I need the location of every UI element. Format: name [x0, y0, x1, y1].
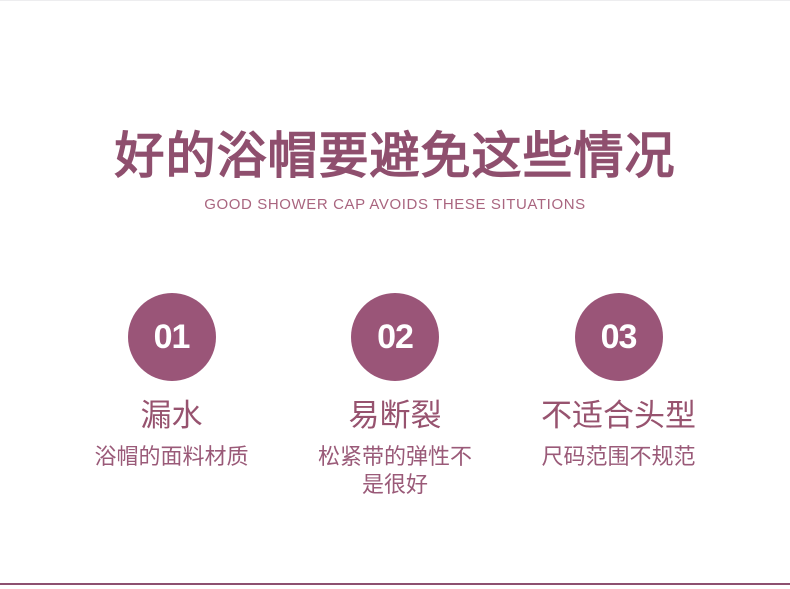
number-badge-circle-02: 02 — [351, 293, 439, 381]
badge-number-label: 01 — [154, 320, 190, 354]
item-description-02: 松紧带的弹性不是很好 — [310, 443, 480, 499]
top-hairline-divider — [0, 0, 790, 1]
item-title-03: 不适合头型 — [541, 397, 696, 435]
page-subtitle: GOOD SHOWER CAP AVOIDS THESE SITUATIONS — [0, 196, 790, 214]
item-description-01: 浴帽的面料材质 — [94, 443, 248, 471]
item-card-02: 02 易断裂 松紧带的弹性不是很好 — [284, 293, 507, 499]
item-title-02: 易断裂 — [349, 397, 442, 435]
heading-block: 好的浴帽要避免这些情况 GOOD SHOWER CAP AVOIDS THESE… — [0, 126, 790, 214]
page-title: 好的浴帽要避免这些情况 — [0, 126, 790, 186]
badge-number-label: 03 — [601, 320, 637, 354]
bottom-divider-rule — [0, 583, 790, 585]
number-badge-circle-03: 03 — [575, 293, 663, 381]
item-card-01: 01 漏水 浴帽的面料材质 — [60, 293, 283, 471]
items-row: 01 漏水 浴帽的面料材质 02 易断裂 松紧带的弹性不是很好 03 不适合头型… — [60, 293, 730, 499]
badge-number-label: 02 — [377, 320, 413, 354]
infographic-page: 好的浴帽要避免这些情况 GOOD SHOWER CAP AVOIDS THESE… — [0, 0, 790, 589]
item-title-01: 漏水 — [141, 397, 203, 435]
number-badge-circle-01: 01 — [128, 293, 216, 381]
item-description-03: 尺码范围不规范 — [541, 443, 695, 471]
item-card-03: 03 不适合头型 尺码范围不规范 — [507, 293, 730, 471]
